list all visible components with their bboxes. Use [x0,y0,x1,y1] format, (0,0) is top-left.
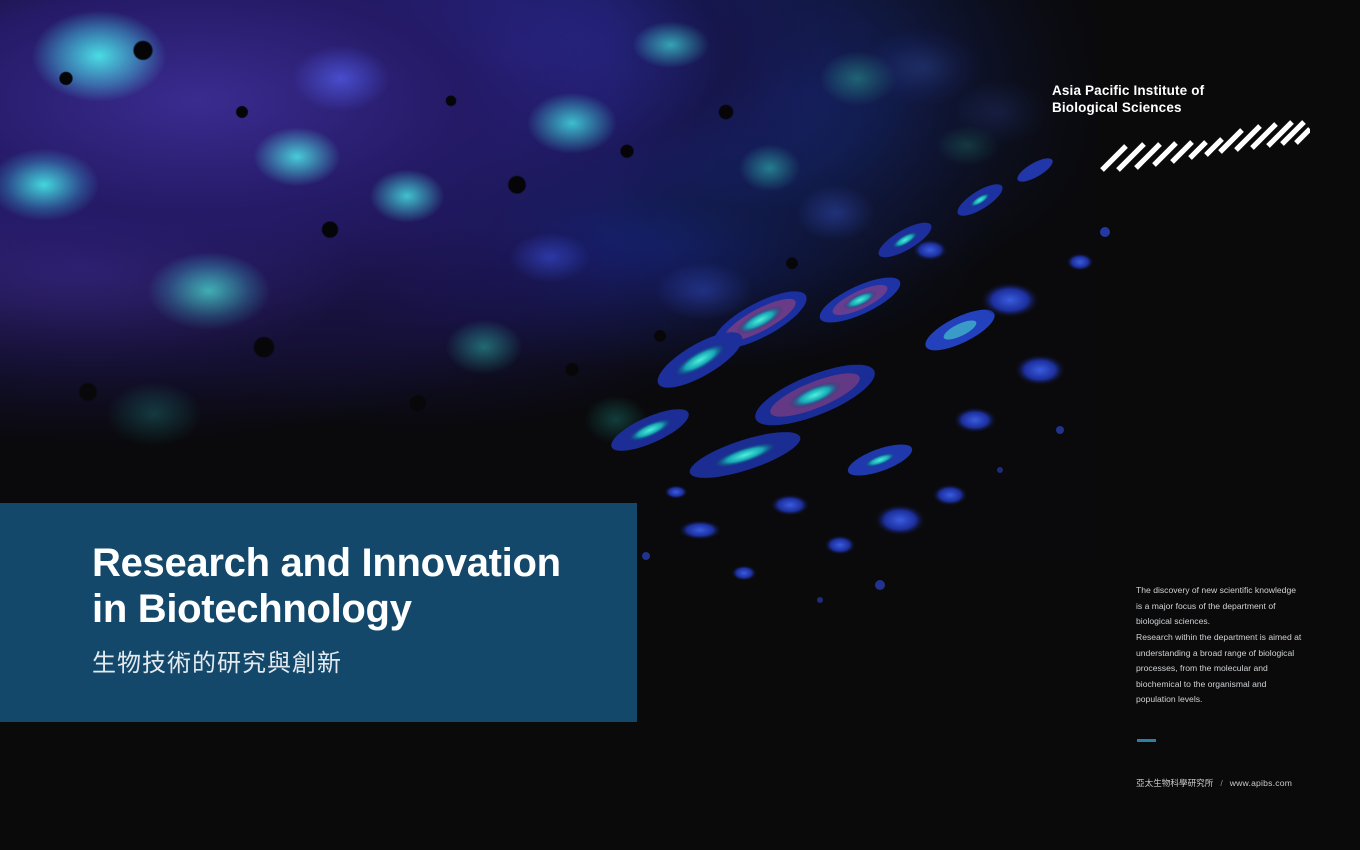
poster-canvas: Asia Pacific Institute of Biological Sci… [0,0,1360,850]
page-title: Research and Innovation in Biotechnology [92,540,612,633]
title-panel: Research and Innovation in Biotechnology… [0,503,637,722]
footer-separator: / [1220,778,1222,788]
footer-organization: 亞太生物科學研究所 [1136,777,1213,789]
page-subtitle: 生物技術的研究與創新 [92,643,342,678]
footer-website[interactable]: www.apibs.com [1230,778,1292,788]
artwork-fade-layer [0,0,1100,560]
accent-divider [1137,739,1156,742]
description-text: The discovery of new scientific knowledg… [1136,583,1304,708]
diagonal-slashes-icon [1100,110,1310,172]
hero-artwork [0,0,1100,560]
footer: 亞太生物科學研究所 / www.apibs.com [1136,777,1292,789]
brand-logo[interactable]: Asia Pacific Institute of Biological Sci… [1052,82,1312,172]
